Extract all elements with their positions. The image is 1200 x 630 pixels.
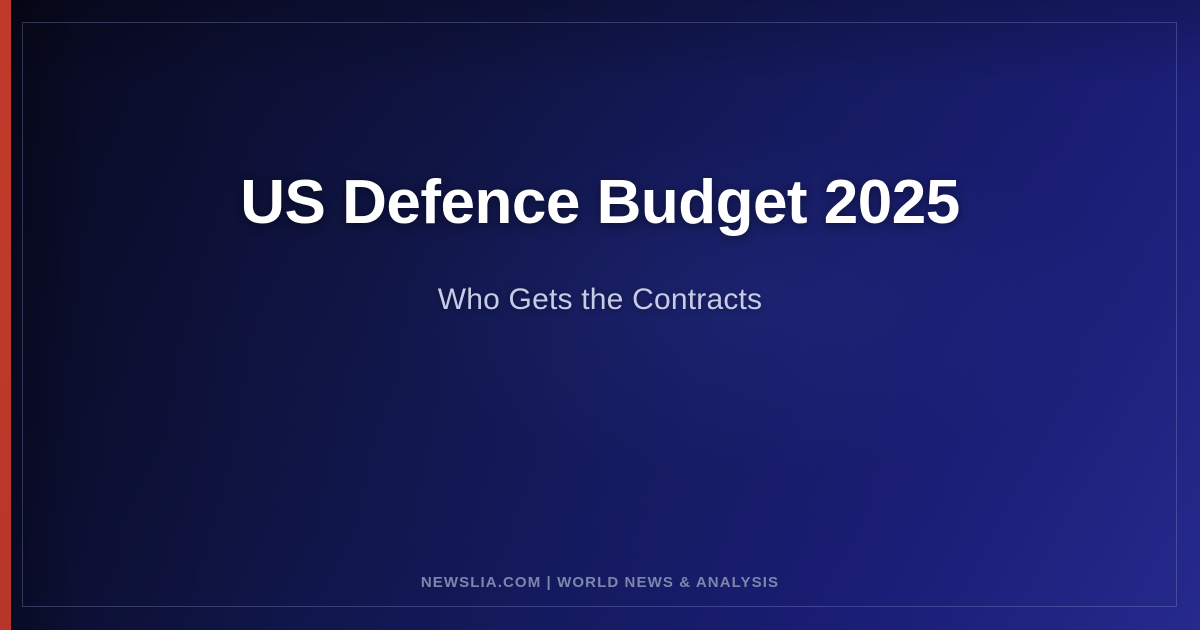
page-subtitle: Who Gets the Contracts bbox=[0, 283, 1200, 317]
card-content: US Defence Budget 2025 Who Gets the Cont… bbox=[0, 0, 1200, 630]
footer-branding: NEWSLIA.COM | WORLD NEWS & ANALYSIS bbox=[0, 574, 1200, 591]
social-share-card: US Defence Budget 2025 Who Gets the Cont… bbox=[0, 0, 1200, 630]
page-title: US Defence Budget 2025 bbox=[0, 170, 1200, 235]
